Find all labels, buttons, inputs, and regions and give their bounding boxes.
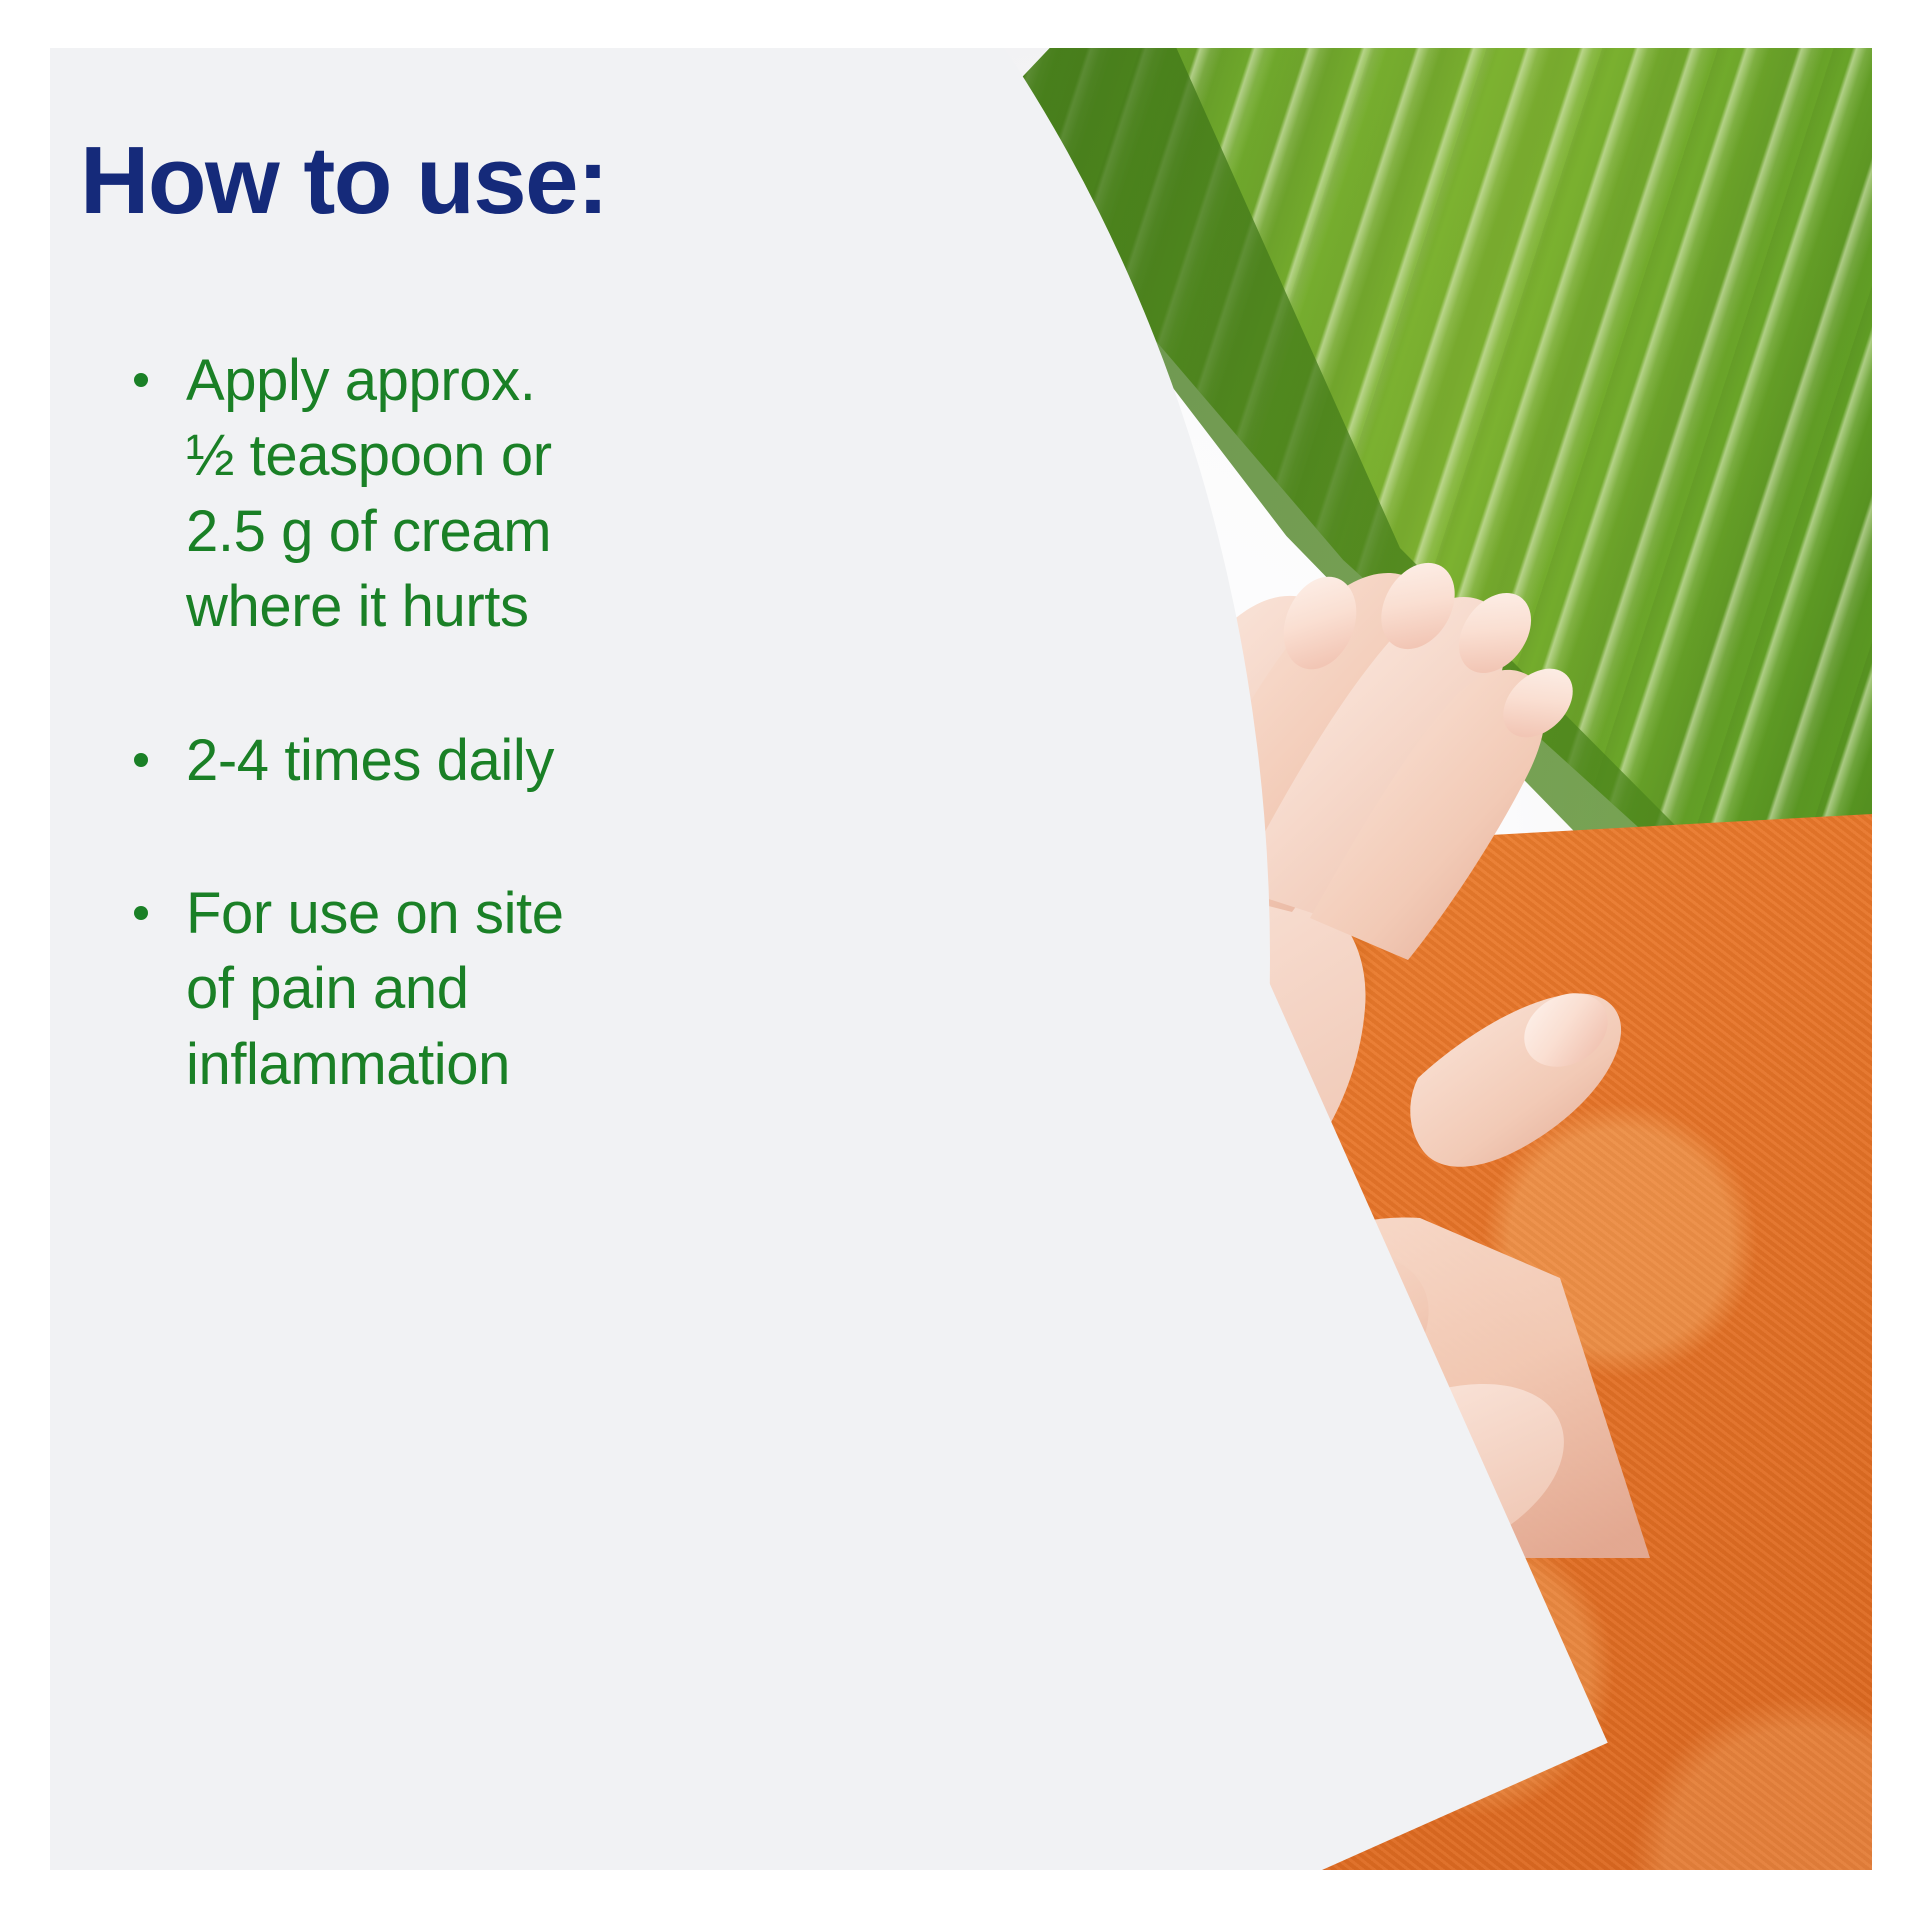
bullet-line: inflammation xyxy=(186,1027,684,1102)
list-item: For use on site of pain and inflammation xyxy=(124,876,684,1102)
bullet-dot-icon xyxy=(134,906,148,920)
list-item: 2-4 times daily xyxy=(124,723,684,798)
bullet-line: For use on site xyxy=(186,876,684,951)
bullet-line: ½ teaspoon or xyxy=(186,418,684,493)
bullet-line: 2.5 g of cream xyxy=(186,494,684,569)
bullet-line: Apply approx. xyxy=(186,343,684,418)
list-item: Apply approx. ½ teaspoon or 2.5 g of cre… xyxy=(124,343,684,645)
poster-canvas: How to use: Apply approx. ½ teaspoon or … xyxy=(50,48,1872,1870)
bullet-line: 2-4 times daily xyxy=(186,723,684,798)
bullet-line: where it hurts xyxy=(186,569,684,644)
bullet-dot-icon xyxy=(134,753,148,767)
bullet-line: of pain and xyxy=(186,951,684,1026)
page-title: How to use: xyxy=(80,133,607,229)
instruction-list: Apply approx. ½ teaspoon or 2.5 g of cre… xyxy=(124,343,684,1102)
bullet-dot-icon xyxy=(134,373,148,387)
